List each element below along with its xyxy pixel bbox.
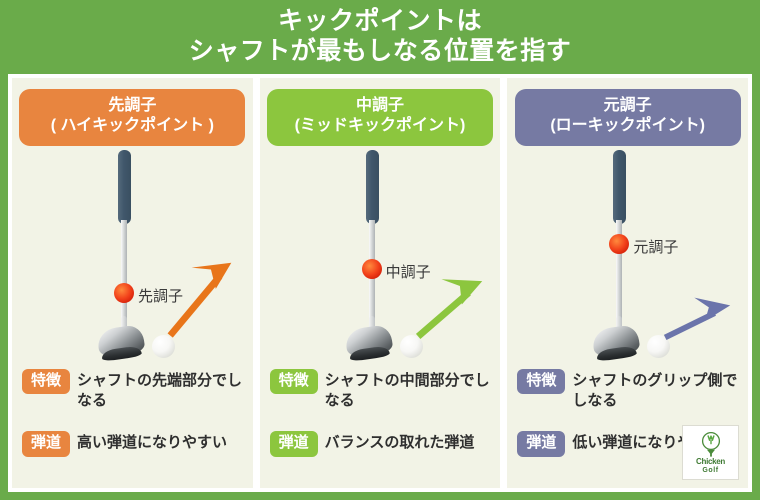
trajectory-text: バランスの取れた弾道 (325, 431, 475, 453)
trajectory-row: 弾道 高い弾道になりやすい (22, 431, 243, 457)
ball-flight-arrow-icon (12, 146, 253, 361)
feature-text: シャフトのグリップ側でしなる (572, 369, 738, 412)
feature-tag: 特徴 (517, 369, 565, 395)
brand-logo: Chicken Golf (682, 425, 739, 480)
club-illustration-high: 先調子 (12, 146, 253, 361)
panel-header-line1: 先調子 (23, 96, 241, 116)
panel-header-line1: 中調子 (271, 96, 489, 116)
trajectory-tag: 弾道 (22, 431, 70, 457)
logo-text-line2: Golf (702, 467, 718, 474)
panel-header-line2: ( ハイキックポイント ) (23, 116, 241, 136)
title-line-2: シャフトが最もしなる位置を指す (189, 36, 572, 67)
golf-tee-icon (696, 431, 726, 457)
trajectory-row: 弾道 バランスの取れた弾道 (270, 431, 491, 457)
panels-board: 先調子 ( ハイキックポイント ) 先調子 特徴 シャフトの先 (8, 74, 752, 492)
panel-header-high: 先調子 ( ハイキックポイント ) (19, 89, 245, 146)
feature-text: シャフトの先端部分でしなる (77, 369, 243, 412)
title-line-1: キックポイントは (278, 6, 482, 37)
panel-header-line2: (ローキックポイント) (519, 116, 737, 136)
trajectory-text: 高い弾道になりやすい (77, 431, 227, 453)
infographic-page: キックポイントは シャフトが最もしなる位置を指す 先調子 ( ハイキックポイント… (0, 0, 760, 500)
features-mid: 特徴 シャフトの中間部分でしなる 弾道 バランスの取れた弾道 (260, 363, 501, 457)
logo-text-line1: Chicken (696, 458, 725, 466)
club-illustration-low: 元調子 (507, 146, 748, 361)
panel-header-low: 元調子 (ローキックポイント) (515, 89, 741, 146)
panel-header-line2: (ミッドキックポイント) (271, 116, 489, 136)
panel-low-kick-point: 元調子 (ローキックポイント) 元調子 特徴 シャフトのグリッ (507, 78, 748, 488)
club-illustration-mid: 中調子 (260, 146, 501, 361)
ball-flight-arrow-icon (507, 146, 748, 361)
panel-header-mid: 中調子 (ミッドキックポイント) (267, 89, 493, 146)
feature-row: 特徴 シャフトのグリップ側でしなる (517, 369, 738, 412)
feature-row: 特徴 シャフトの先端部分でしなる (22, 369, 243, 412)
feature-text: シャフトの中間部分でしなる (325, 369, 491, 412)
feature-tag: 特徴 (22, 369, 70, 395)
feature-tag: 特徴 (270, 369, 318, 395)
panel-mid-kick-point: 中調子 (ミッドキックポイント) 中調子 特徴 シャフトの中間 (260, 78, 501, 488)
page-title: キックポイントは シャフトが最もしなる位置を指す (0, 0, 760, 72)
panel-high-kick-point: 先調子 ( ハイキックポイント ) 先調子 特徴 シャフトの先 (12, 78, 253, 488)
ball-flight-arrow-icon (260, 146, 501, 361)
trajectory-tag: 弾道 (270, 431, 318, 457)
feature-row: 特徴 シャフトの中間部分でしなる (270, 369, 491, 412)
trajectory-tag: 弾道 (517, 431, 565, 457)
features-high: 特徴 シャフトの先端部分でしなる 弾道 高い弾道になりやすい (12, 363, 253, 457)
panel-header-line1: 元調子 (519, 96, 737, 116)
